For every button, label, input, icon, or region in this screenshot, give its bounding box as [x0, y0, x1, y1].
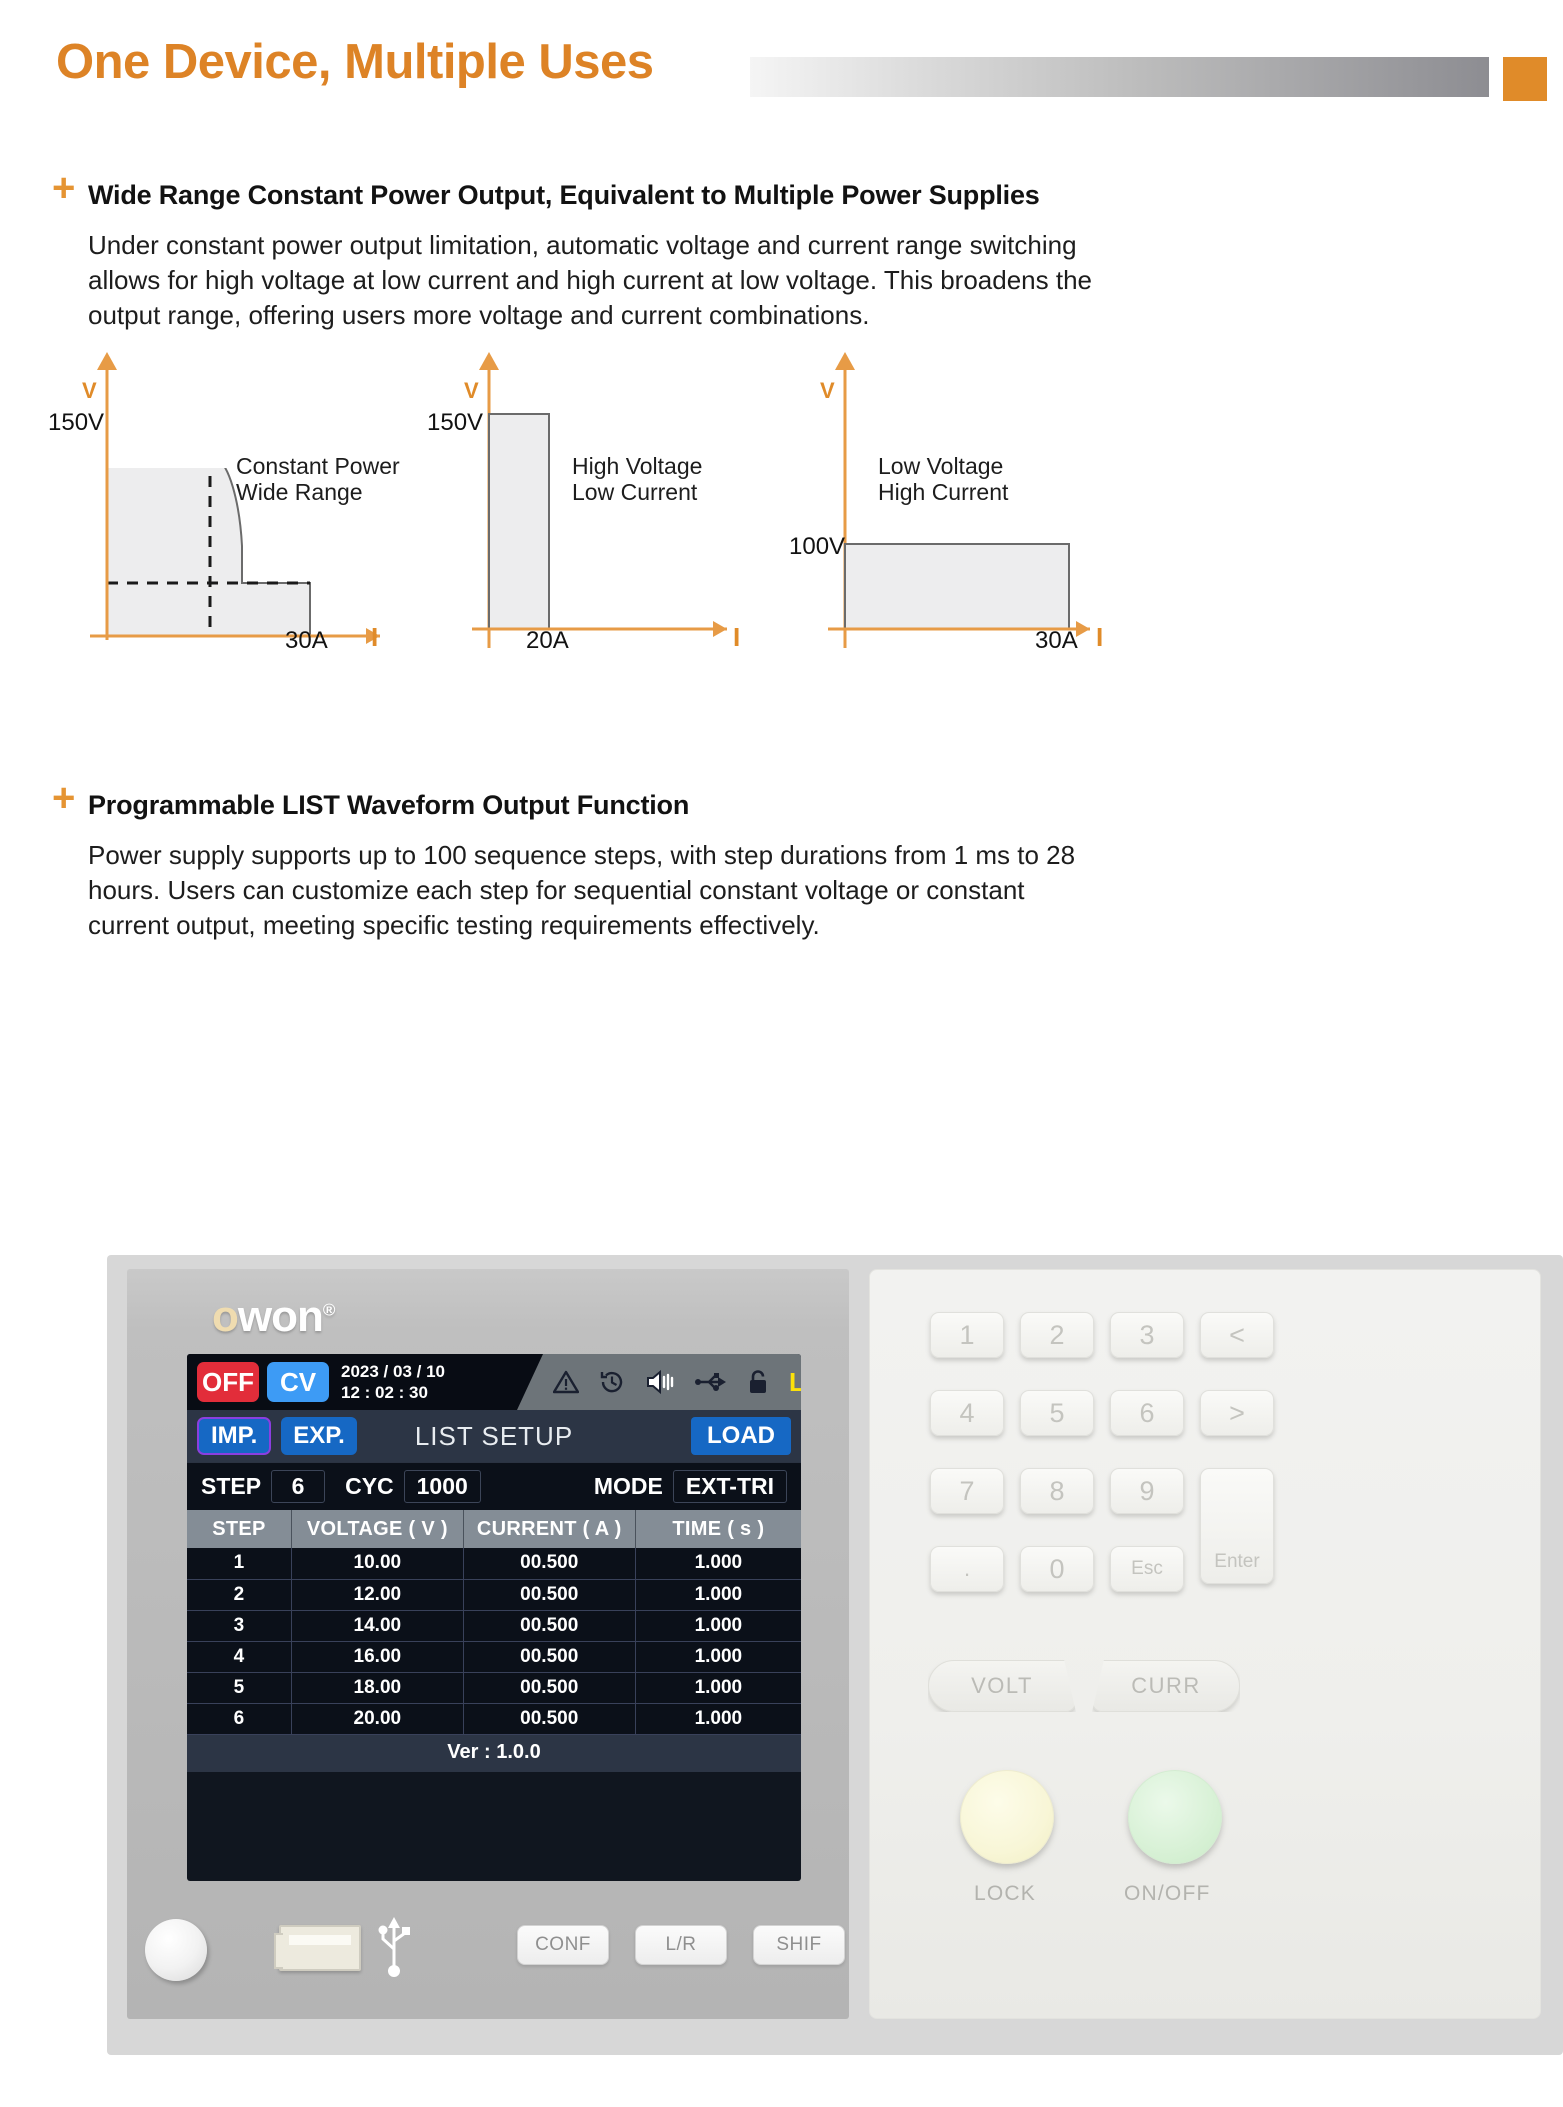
cell-r6-c2[interactable]: 20.00 — [291, 1703, 463, 1734]
bullet-plus-icon-1: + — [52, 168, 75, 208]
list-table: STEP VOLTAGE ( V ) CURRENT ( A ) TIME ( … — [187, 1510, 801, 1735]
key-right-arrow[interactable]: > — [1200, 1390, 1274, 1436]
load-button[interactable]: LOAD — [691, 1417, 791, 1455]
usb-icon — [695, 1372, 727, 1392]
cell-r3-c4[interactable]: 1.000 — [635, 1610, 801, 1641]
cell-r2-c4[interactable]: 1.000 — [635, 1579, 801, 1610]
chart-3-annotation-line2: High Current — [878, 478, 1008, 508]
cell-r4-c3[interactable]: 00.500 — [463, 1641, 635, 1672]
section-1-body: Under constant power output limitation, … — [88, 228, 1148, 332]
cell-r3-c1[interactable]: 3 — [187, 1610, 291, 1641]
cell-r6-c4[interactable]: 1.000 — [635, 1703, 801, 1734]
chart-3-xtick: 30A — [1035, 627, 1078, 655]
list-table-body: 110.0000.5001.000212.0000.5001.000314.00… — [187, 1548, 801, 1734]
cell-r4-c1[interactable]: 4 — [187, 1641, 291, 1672]
conf-button[interactable]: CONF — [517, 1925, 609, 1965]
owon-logo: oowonwon® — [212, 1295, 334, 1339]
header-accent-square — [1503, 57, 1547, 101]
status-left-group: OFF CV 2023 / 03 / 10 12 : 02 : 30 — [187, 1354, 543, 1410]
page-header: One Device, Multiple Uses — [0, 0, 1563, 120]
key-esc[interactable]: Esc — [1110, 1546, 1184, 1592]
cell-r4-c4[interactable]: 1.000 — [635, 1641, 801, 1672]
status-badge-mode-cv[interactable]: CV — [267, 1362, 329, 1402]
key-enter[interactable]: Enter — [1200, 1468, 1274, 1584]
onoff-button[interactable] — [1128, 1770, 1222, 1864]
section-1-heading: Wide Range Constant Power Output, Equiva… — [88, 180, 1040, 211]
bullet-plus-icon-2: + — [52, 778, 75, 818]
cell-r3-c2[interactable]: 14.00 — [291, 1610, 463, 1641]
chart-1-xtick: 30A — [285, 627, 328, 655]
device-left-panel: oowonwon® OFF CV 2023 / 03 / 10 12 : 02 … — [127, 1269, 849, 2019]
usb-symbol-icon — [377, 1917, 411, 1984]
table-row[interactable]: 518.0000.5001.000 — [187, 1672, 801, 1703]
col-voltage: VOLTAGE ( V ) — [291, 1510, 463, 1548]
cell-r2-c3[interactable]: 00.500 — [463, 1579, 635, 1610]
table-header-row: STEP VOLTAGE ( V ) CURRENT ( A ) TIME ( … — [187, 1510, 801, 1548]
status-date: 2023 / 03 / 10 — [341, 1361, 445, 1382]
chart-2-annotation-line2: Low Current — [572, 478, 697, 508]
cell-r5-c1[interactable]: 5 — [187, 1672, 291, 1703]
section-2-heading: Programmable LIST Waveform Output Functi… — [88, 790, 689, 821]
col-time: TIME ( s ) — [635, 1510, 801, 1548]
table-row[interactable]: 212.0000.5001.000 — [187, 1579, 801, 1610]
chart-3-ylabel: V — [820, 378, 835, 404]
key-5[interactable]: 5 — [1020, 1390, 1094, 1436]
key-left-arrow[interactable]: < — [1200, 1312, 1274, 1358]
cell-r1-c3[interactable]: 00.500 — [463, 1548, 635, 1579]
chart-1-ytick: 150V — [48, 409, 104, 437]
key-3[interactable]: 3 — [1110, 1312, 1184, 1358]
cell-r4-c2[interactable]: 16.00 — [291, 1641, 463, 1672]
chart-1-ylabel: V — [82, 378, 97, 404]
col-current: CURRENT ( A ) — [463, 1510, 635, 1548]
firmware-version: Ver : 1.0.0 — [187, 1735, 801, 1772]
warning-icon — [553, 1370, 579, 1394]
speaker-icon — [645, 1369, 675, 1395]
table-row[interactable]: 314.0000.5001.000 — [187, 1610, 801, 1641]
status-time: 12 : 02 : 30 — [341, 1382, 445, 1403]
step-label: STEP — [201, 1473, 261, 1500]
chart-1-annotation-line2: Wide Range — [236, 478, 363, 508]
cell-r5-c3[interactable]: 00.500 — [463, 1672, 635, 1703]
chart-2-ytick: 150V — [427, 409, 483, 437]
chart-2-ylabel: V — [464, 378, 479, 404]
cell-r1-c1[interactable]: 1 — [187, 1548, 291, 1579]
key-4[interactable]: 4 — [930, 1390, 1004, 1436]
screen-status-bar: OFF CV 2023 / 03 / 10 12 : 02 : 30 — [187, 1354, 801, 1410]
mode-value-field[interactable]: EXT-TRI — [673, 1470, 787, 1503]
table-row[interactable]: 110.0000.5001.000 — [187, 1548, 801, 1579]
chart-3-ytick: 100V — [789, 533, 845, 561]
status-icon-group: LIST — [553, 1354, 793, 1410]
shif-button[interactable]: SHIF — [753, 1925, 845, 1965]
table-row[interactable]: 416.0000.5001.000 — [187, 1641, 801, 1672]
cell-r2-c2[interactable]: 12.00 — [291, 1579, 463, 1610]
chart-3-xlabel: I — [1096, 622, 1103, 653]
onoff-button-label: ON/OFF — [1124, 1882, 1211, 1906]
cell-r5-c2[interactable]: 18.00 — [291, 1672, 463, 1703]
lock-button-label: LOCK — [974, 1882, 1036, 1906]
step-value-field[interactable]: 6 — [271, 1470, 325, 1503]
power-supply-device: oowonwon® OFF CV 2023 / 03 / 10 12 : 02 … — [107, 1255, 1563, 2055]
device-screen[interactable]: OFF CV 2023 / 03 / 10 12 : 02 : 30 — [187, 1354, 801, 1881]
header-gradient-bar — [750, 57, 1489, 97]
status-datetime: 2023 / 03 / 10 12 : 02 : 30 — [337, 1361, 445, 1404]
cell-r3-c3[interactable]: 00.500 — [463, 1610, 635, 1641]
section-2-body: Power supply supports up to 100 sequence… — [88, 838, 1088, 942]
lr-button[interactable]: L/R — [635, 1925, 727, 1965]
lock-icon — [747, 1369, 769, 1395]
key-6[interactable]: 6 — [1110, 1390, 1184, 1436]
cyc-value-field[interactable]: 1000 — [404, 1470, 481, 1503]
key-7[interactable]: 7 — [930, 1468, 1004, 1514]
screen-params-row: STEP 6 CYC 1000 MODE EXT-TRI — [187, 1462, 801, 1510]
col-step: STEP — [187, 1510, 291, 1548]
key-decimal-point[interactable]: . — [930, 1546, 1004, 1592]
cyc-label: CYC — [345, 1473, 394, 1500]
key-2[interactable]: 2 — [1020, 1312, 1094, 1358]
key-9[interactable]: 9 — [1110, 1468, 1184, 1514]
status-badge-output[interactable]: OFF — [197, 1362, 259, 1402]
page-title: One Device, Multiple Uses — [56, 34, 654, 90]
mode-label: MODE — [594, 1473, 663, 1500]
cell-r1-c4[interactable]: 1.000 — [635, 1548, 801, 1579]
history-icon — [599, 1369, 625, 1395]
cell-r2-c1[interactable]: 2 — [187, 1579, 291, 1610]
key-0[interactable]: 0 — [1020, 1546, 1094, 1592]
rotary-knob[interactable] — [145, 1919, 207, 1981]
table-row[interactable]: 620.0000.5001.000 — [187, 1703, 801, 1734]
curr-button[interactable]: CURR — [1092, 1660, 1240, 1712]
cell-r5-c4[interactable]: 1.000 — [635, 1672, 801, 1703]
key-8[interactable]: 8 — [1020, 1468, 1094, 1514]
usb-port — [279, 1925, 361, 1971]
lock-button[interactable] — [960, 1770, 1054, 1864]
cell-r1-c2[interactable]: 10.00 — [291, 1548, 463, 1579]
device-right-panel: 1 2 3 < 4 5 6 > 7 8 9 Enter . 0 Esc VOLT… — [869, 1269, 1541, 2019]
registered-mark: ® — [323, 1300, 335, 1319]
volt-button[interactable]: VOLT — [928, 1660, 1076, 1712]
chart-2-xtick: 20A — [526, 627, 569, 655]
screen-toolbar: IMP. EXP. LIST SETUP LOAD — [187, 1410, 801, 1462]
chart-2-xlabel: I — [733, 622, 740, 653]
cell-r6-c1[interactable]: 6 — [187, 1703, 291, 1734]
chart-1-xlabel: I — [371, 622, 378, 653]
cell-r6-c3[interactable]: 00.500 — [463, 1703, 635, 1734]
key-1[interactable]: 1 — [930, 1312, 1004, 1358]
status-badge-list: LIST — [789, 1367, 801, 1398]
